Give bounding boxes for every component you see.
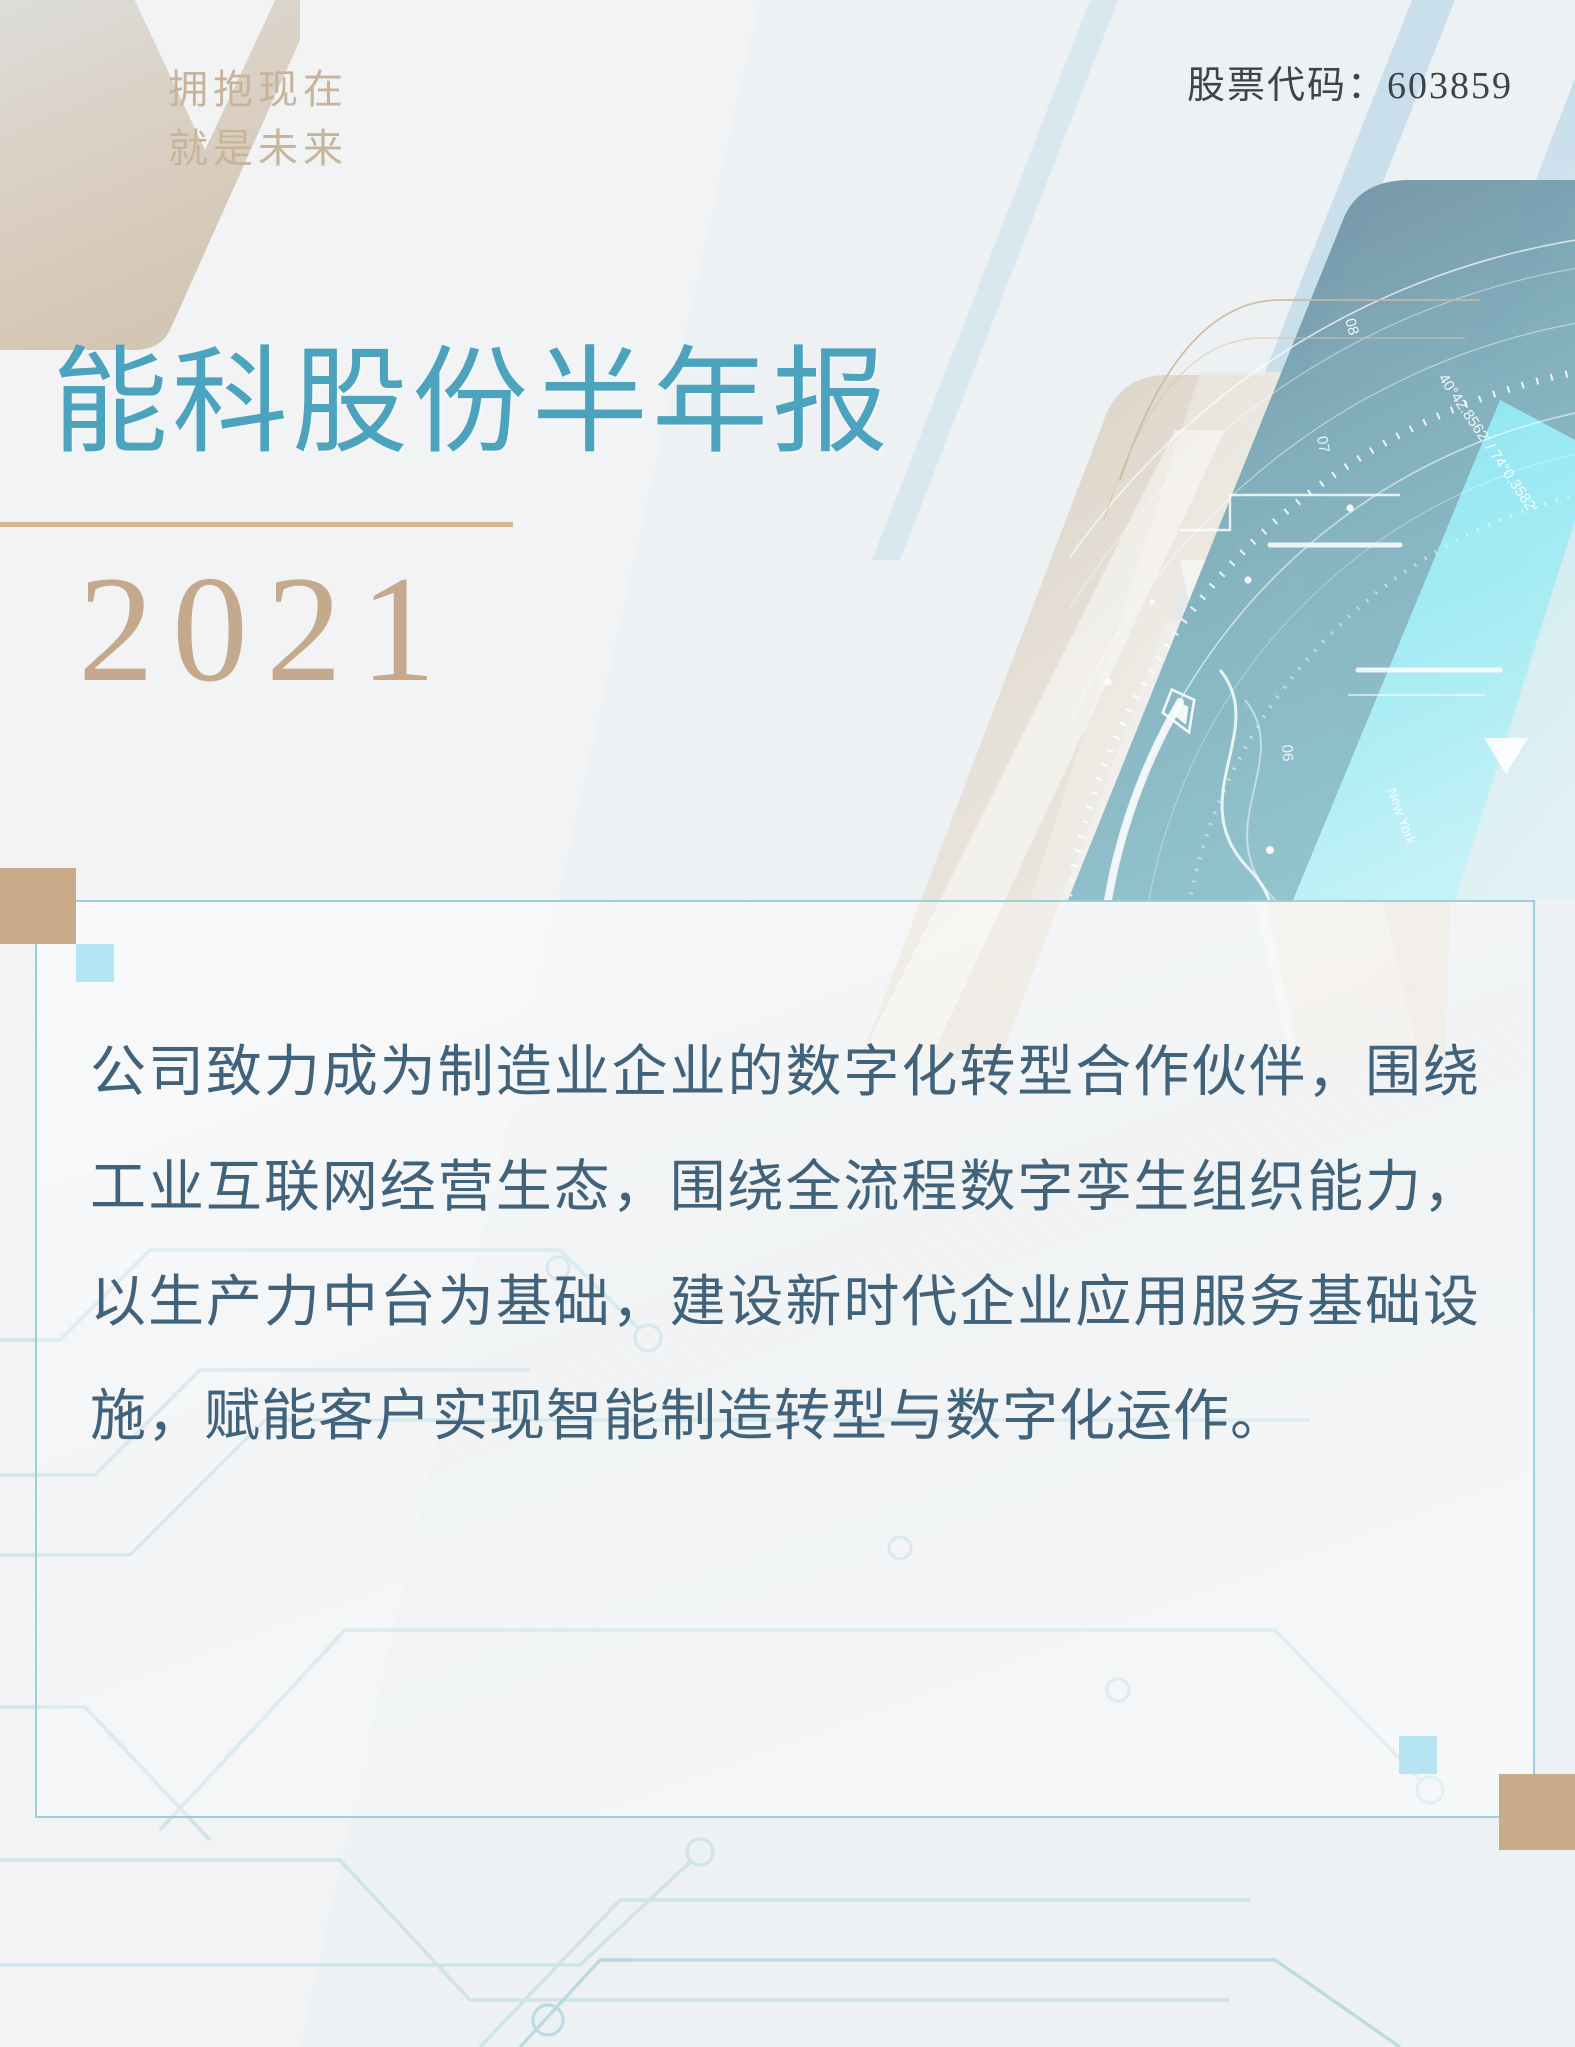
page-title: 能科股份半年报 — [52, 346, 892, 462]
report-year: 2021 — [78, 553, 454, 705]
accent-square-gold-bottom-right — [1499, 1774, 1575, 1850]
accent-square-blue-bottom-right — [1399, 1736, 1437, 1774]
accent-square-blue-top-left — [76, 944, 114, 982]
hud-tick-06-label: 06 — [1278, 744, 1296, 762]
tagline: 拥抱现在 就是未来 — [168, 60, 348, 178]
title-divider-rule — [0, 522, 513, 527]
company-description-paragraph: 公司致力成为制造业企业的数字化转型合作伙伴，围绕工业互联网经营生态，围绕全流程数… — [90, 1015, 1480, 1474]
stock-code: 股票代码：603859 — [1187, 54, 1513, 109]
hud-tick-07-label: 07 — [1313, 435, 1333, 454]
accent-square-gold-top-left — [0, 868, 76, 944]
poster-page: 08 07 06 40°42.8562' / 74°0.3582' New Yo… — [0, 0, 1575, 2047]
